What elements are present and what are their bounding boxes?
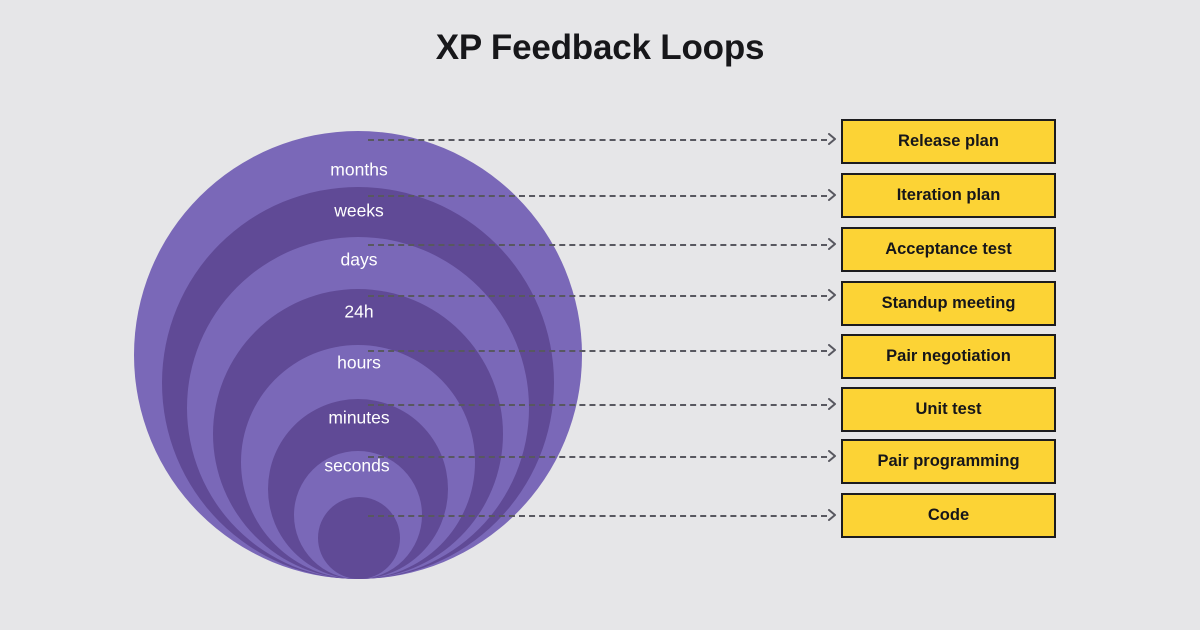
arrow-head-icon-3 (827, 289, 839, 301)
practice-box-release-plan[interactable]: Release plan (841, 119, 1056, 164)
practice-box-label: Standup meeting (882, 294, 1016, 313)
practice-box-label: Acceptance test (885, 240, 1012, 259)
connector-line-2 (368, 244, 827, 246)
practice-box-label: Code (928, 506, 969, 525)
arrow-head-icon-2 (827, 238, 839, 250)
connector-line-0 (368, 139, 827, 141)
arrow-head-icon-5 (827, 398, 839, 410)
connector-line-5 (368, 404, 827, 406)
practice-box-pair-programming[interactable]: Pair programming (841, 439, 1056, 484)
connector-line-7 (368, 515, 827, 517)
arrow-head-icon-4 (827, 344, 839, 356)
loop-ring-7 (318, 497, 400, 579)
practice-box-label: Release plan (898, 132, 999, 151)
practice-box-label: Pair programming (877, 452, 1019, 471)
diagram-canvas: XP Feedback Loops monthsweeksdays24hhour… (0, 0, 1200, 630)
practice-box-iteration-plan[interactable]: Iteration plan (841, 173, 1056, 218)
practice-box-label: Pair negotiation (886, 347, 1011, 366)
practice-box-code[interactable]: Code (841, 493, 1056, 538)
connector-line-6 (368, 456, 827, 458)
practice-box-label: Iteration plan (897, 186, 1001, 205)
arrow-head-icon-7 (827, 509, 839, 521)
practice-box-unit-test[interactable]: Unit test (841, 387, 1056, 432)
arrow-head-icon-1 (827, 189, 839, 201)
practice-box-pair-negotiation[interactable]: Pair negotiation (841, 334, 1056, 379)
practice-box-standup-meeting[interactable]: Standup meeting (841, 281, 1056, 326)
arrow-head-icon-0 (827, 133, 839, 145)
practice-box-label: Unit test (916, 400, 982, 419)
arrow-head-icon-6 (827, 450, 839, 462)
practice-box-acceptance-test[interactable]: Acceptance test (841, 227, 1056, 272)
connector-line-4 (368, 350, 827, 352)
connector-line-3 (368, 295, 827, 297)
connector-line-1 (368, 195, 827, 197)
